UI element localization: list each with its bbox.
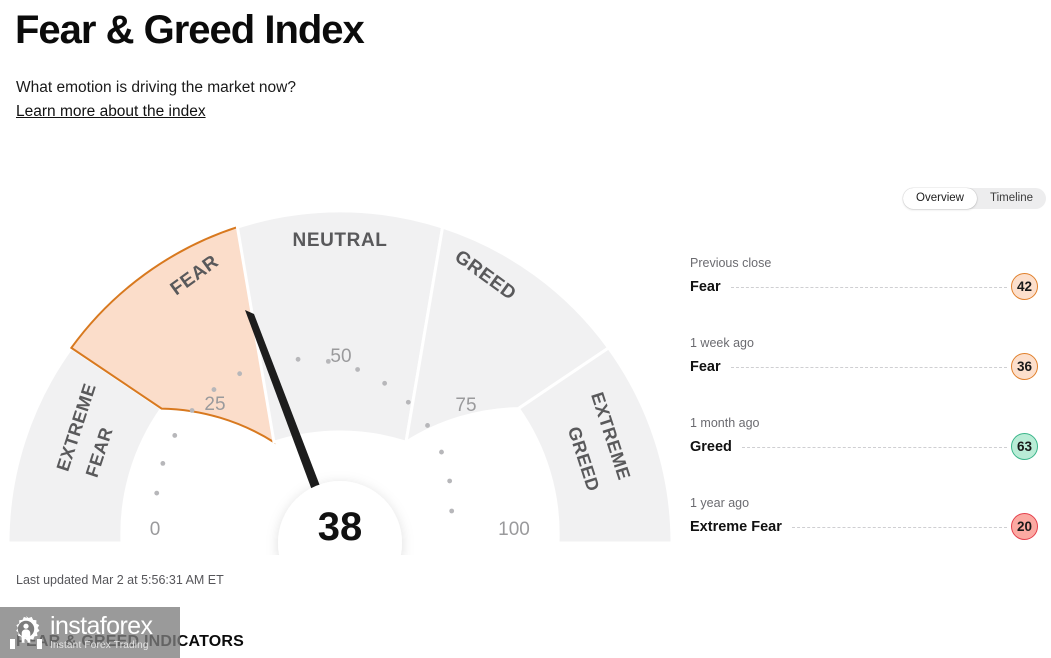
scale-label-50: 50 bbox=[330, 346, 351, 367]
segment-label-neutral: NEUTRAL bbox=[293, 230, 388, 251]
leader-line bbox=[731, 367, 1007, 368]
status-badge: 42 bbox=[1011, 273, 1038, 300]
history-period: 1 month ago bbox=[690, 415, 1038, 431]
history-row-one-year-ago[interactable]: 1 year ago Extreme Fear 20 bbox=[690, 495, 1038, 575]
history-period: Previous close bbox=[690, 255, 1038, 271]
scale-label-100: 100 bbox=[498, 519, 530, 540]
instaforex-logo-icon bbox=[6, 613, 46, 653]
history-sentiment-label: Fear bbox=[690, 279, 727, 295]
tab-overview[interactable]: Overview bbox=[903, 188, 977, 209]
status-badge: 36 bbox=[1011, 353, 1038, 380]
watermark-name: instaforex bbox=[50, 614, 152, 639]
tab-timeline[interactable]: Timeline bbox=[977, 188, 1046, 209]
scale-label-75: 75 bbox=[455, 395, 476, 416]
history-sentiment-label: Fear bbox=[690, 359, 727, 375]
instaforex-watermark: instaforex Instant Forex Trading bbox=[0, 607, 180, 658]
status-badge: 63 bbox=[1011, 433, 1038, 460]
scale-label-0: 0 bbox=[150, 519, 161, 540]
last-updated-text: Last updated Mar 2 at 5:56:31 AM ET bbox=[16, 573, 224, 587]
history-row-one-month-ago[interactable]: 1 month ago Greed 63 bbox=[690, 415, 1038, 495]
scale-label-25: 25 bbox=[204, 394, 225, 415]
gauge-value: 38 bbox=[318, 505, 363, 549]
history-period: 1 year ago bbox=[690, 495, 1038, 511]
fear-greed-index-page: Fear & Greed Index What emotion is drivi… bbox=[0, 0, 1051, 658]
page-title: Fear & Greed Index bbox=[15, 4, 364, 56]
leader-line bbox=[792, 527, 1007, 528]
watermark-tagline: Instant Forex Trading bbox=[50, 641, 152, 651]
status-badge: 20 bbox=[1011, 513, 1038, 540]
leader-line bbox=[731, 287, 1007, 288]
gauge-svg: EXTREME FEAR FEAR NEUTRAL GREED EXTREME … bbox=[8, 210, 673, 555]
history-row-previous-close[interactable]: Previous close Fear 42 bbox=[690, 255, 1038, 335]
history-row-one-week-ago[interactable]: 1 week ago Fear 36 bbox=[690, 335, 1038, 415]
history-period: 1 week ago bbox=[690, 335, 1038, 351]
page-subtitle: What emotion is driving the market now? bbox=[16, 78, 296, 98]
history-sentiment-label: Greed bbox=[690, 439, 738, 455]
fear-greed-gauge: EXTREME FEAR FEAR NEUTRAL GREED EXTREME … bbox=[8, 210, 673, 555]
history-list: Previous close Fear 42 1 week ago Fear 3… bbox=[690, 255, 1038, 575]
leader-line bbox=[742, 447, 1007, 448]
history-sentiment-label: Extreme Fear bbox=[690, 519, 788, 535]
view-toggle[interactable]: Overview Timeline bbox=[903, 188, 1046, 209]
learn-more-link[interactable]: Learn more about the index bbox=[16, 102, 206, 122]
